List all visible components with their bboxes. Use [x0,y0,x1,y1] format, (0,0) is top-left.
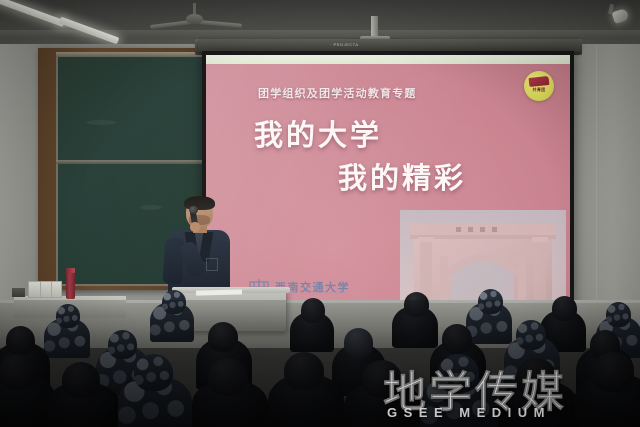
audience [0,296,640,427]
audience-member [134,354,173,391]
screen-housing-brand-label: · PROJECTA [330,42,358,47]
chalk-smudge [86,120,116,125]
audience-member [62,362,100,398]
audience-member [552,296,577,321]
audience-member [516,358,557,397]
water-bottle-cap [66,268,75,273]
audience-member [0,354,36,390]
lecture-hall-photo: · PROJECTA [0,0,640,427]
audience-member [208,358,248,396]
projection-screen: 团学组织及团学活动教育专题 我的大学 我的精彩 共青团 [202,51,574,314]
audience-member [56,304,80,328]
audience-member [344,328,373,357]
youth-league-badge: 共青团 [524,71,554,101]
audience-member [404,292,429,317]
audience-member [438,354,479,393]
chalkboard-top-trim [56,52,208,57]
audience-member [284,352,324,390]
audience-member [516,320,546,350]
audience-member [162,290,186,314]
audience-member [442,324,472,354]
audience-member [478,289,503,314]
slide-top-strip [206,55,570,64]
slide-surface: 团学组织及团学活动教育专题 我的大学 我的精彩 共青团 [206,55,570,310]
ceiling-fan-hub [186,14,203,24]
projector-mount-pipe [371,16,378,38]
audience-member [592,352,634,392]
presenter [160,198,238,298]
water-bottle [66,272,75,299]
slide-title-line2: 我的精彩 [338,155,466,197]
audience-member [606,302,631,327]
audience-member [301,298,325,323]
chalk-smudge [140,205,162,210]
audience-member [362,360,402,398]
microphone-head-icon [189,206,198,214]
slide-title-line1: 我的大学 [254,112,382,154]
slide-subtitle: 团学组织及团学活动教育专题 [258,85,417,101]
red-flag-icon [529,76,550,87]
audience-member [108,330,137,359]
audience-member [208,322,238,352]
audience-member [6,326,35,355]
chalkboard-chalk-rail [56,160,208,164]
presenter-hand [190,222,200,232]
badge-label: 共青团 [528,87,550,93]
presenter-jacket-pocket [206,258,218,271]
